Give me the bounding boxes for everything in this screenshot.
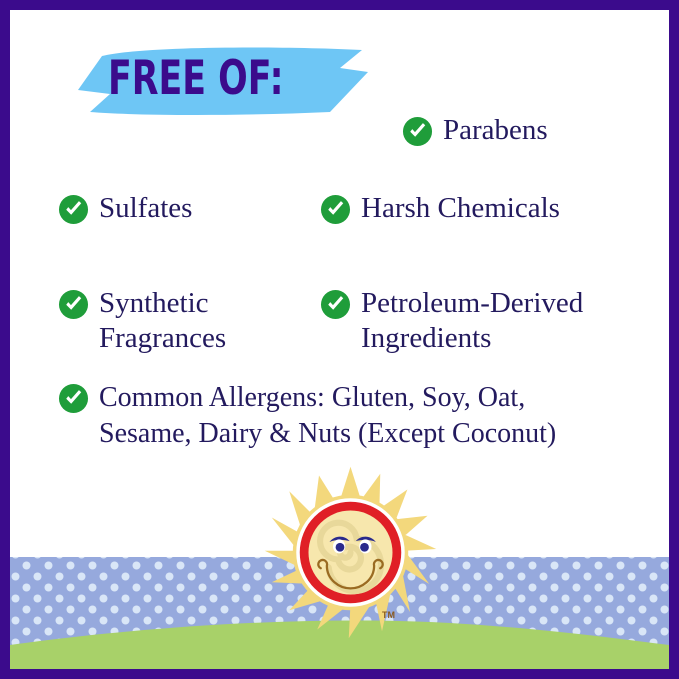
list-item-synthetic-fragrances: Synthetic Fragrances <box>58 286 226 356</box>
check-circle-icon <box>58 383 89 414</box>
trademark-mark: TM <box>382 610 395 620</box>
check-circle-icon <box>320 194 351 225</box>
list-item-sulfates: Sulfates <box>58 191 192 226</box>
list-item-label: Parabens <box>443 113 548 148</box>
list-item-label: Common Allergens: Gluten, Soy, Oat, Sesa… <box>99 380 556 452</box>
sun-face-logo <box>263 465 438 640</box>
list-item-harsh-chemicals: Harsh Chemicals <box>320 191 560 226</box>
check-circle-icon <box>402 116 433 147</box>
list-item-label: Sulfates <box>99 191 192 226</box>
list-item-common-allergens: Common Allergens: Gluten, Soy, Oat, Sesa… <box>58 380 556 452</box>
check-circle-icon <box>320 289 351 320</box>
banner-title: FREE OF: <box>108 51 293 107</box>
list-item-petroleum-derived-ingredients: Petroleum-Derived Ingredients <box>320 286 583 356</box>
list-item-label: Harsh Chemicals <box>361 191 560 226</box>
list-item-label: Synthetic Fragrances <box>99 286 226 356</box>
check-circle-icon <box>58 289 89 320</box>
list-item-label: Petroleum-Derived Ingredients <box>361 286 583 356</box>
check-circle-icon <box>58 194 89 225</box>
free-of-banner: FREE OF: <box>72 46 372 118</box>
product-free-of-card: TM FREE OF: Parabens Sulfates <box>0 0 679 679</box>
list-item-parabens: Parabens <box>402 113 548 148</box>
